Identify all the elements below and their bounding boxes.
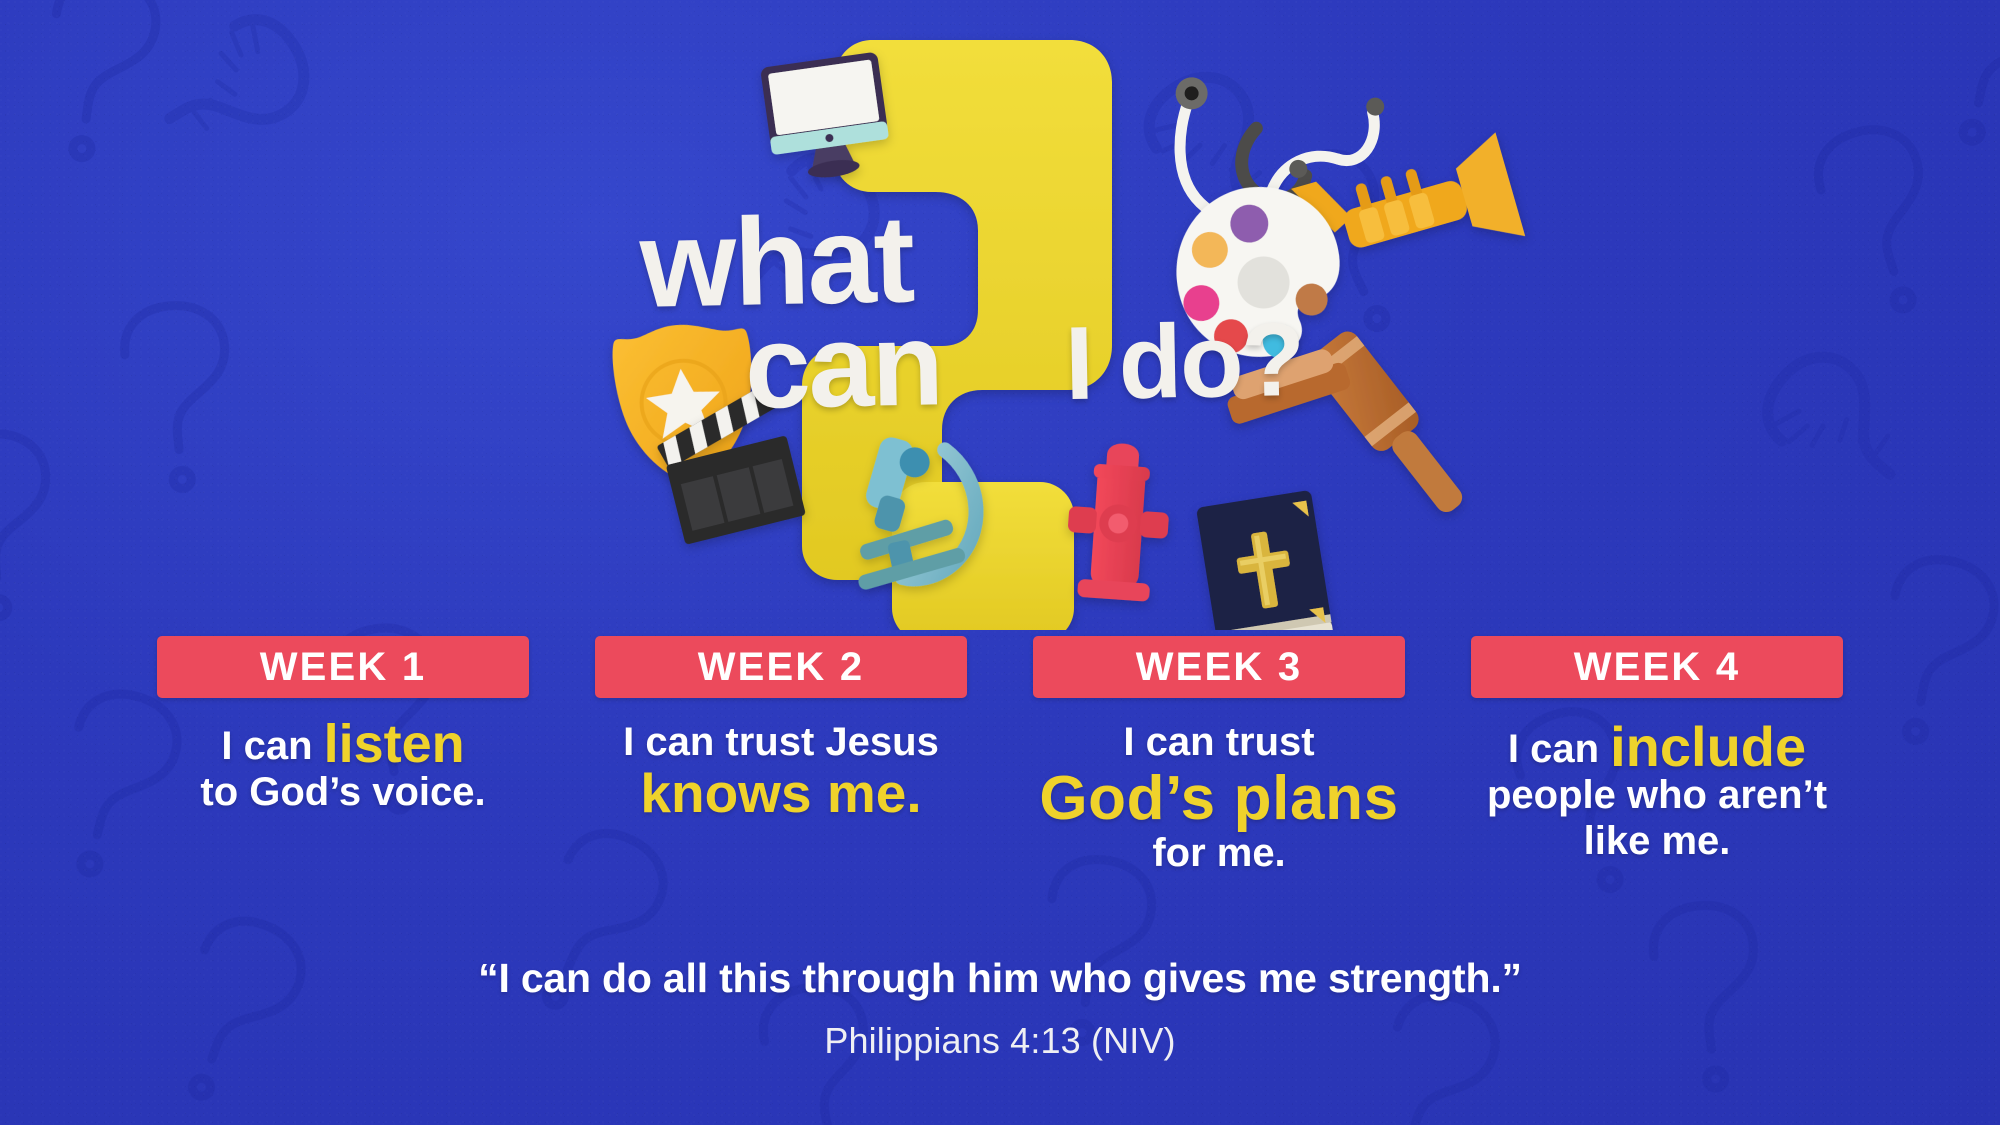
week-column-2: WEEK 2 I can trust Jesus knows me.	[595, 636, 967, 936]
week-column-3: WEEK 3 I can trust God’s plans for me.	[1033, 636, 1405, 936]
week-text-highlight: include	[1610, 720, 1806, 773]
week-badge-label: WEEK 3	[1136, 645, 1303, 690]
week-badge-label: WEEK 1	[260, 645, 427, 690]
week-columns: WEEK 1 I can listen to God’s voice. WEEK…	[0, 636, 2000, 936]
week-text-highlight: listen	[324, 720, 465, 769]
logo-word-i-do: I do?	[1064, 318, 1303, 407]
week-badge-label: WEEK 4	[1574, 645, 1741, 690]
bible-icon	[1196, 490, 1336, 630]
week-text-plain: I can trust Jesus	[623, 720, 939, 764]
week-text-plain: I can	[221, 724, 323, 768]
hero-artwork: what can I do?	[0, 0, 2000, 630]
week-text-plain: I can trust	[1123, 720, 1314, 764]
week-statement-3: I can trust God’s plans for me.	[1033, 720, 1405, 876]
logo-word-can: can	[744, 316, 942, 416]
week-badge-2: WEEK 2	[595, 636, 967, 698]
week-text-highlight: knows me.	[640, 766, 921, 821]
hero-illustration	[0, 0, 2000, 630]
week-statement-2: I can trust Jesus knows me.	[595, 720, 967, 822]
week-badge-4: WEEK 4	[1471, 636, 1843, 698]
week-text-plain: people who aren’t	[1487, 773, 1827, 817]
week-text-plain: I can	[1508, 727, 1610, 771]
memory-verse: “I can do all this through him who gives…	[0, 955, 2000, 1062]
week-text-plain: for me.	[1152, 831, 1285, 875]
week-text-highlight: God’s plans	[1039, 766, 1398, 831]
week-text-plain: like me.	[1584, 819, 1731, 863]
week-badge-label: WEEK 2	[698, 645, 865, 690]
week-text-plain: to God’s voice.	[200, 770, 485, 814]
week-column-1: WEEK 1 I can listen to God’s voice.	[157, 636, 529, 936]
fire-hydrant-icon	[1063, 440, 1174, 603]
verse-reference: Philippians 4:13 (NIV)	[0, 1020, 2000, 1062]
week-statement-4: I can include people who aren’t like me.	[1471, 720, 1843, 864]
week-badge-3: WEEK 3	[1033, 636, 1405, 698]
verse-quote-text: “I can do all this through him who gives…	[0, 955, 2000, 1002]
week-statement-1: I can listen to God’s voice.	[157, 720, 529, 815]
week-badge-1: WEEK 1	[157, 636, 529, 698]
week-column-4: WEEK 4 I can include people who aren’t l…	[1471, 636, 1843, 936]
